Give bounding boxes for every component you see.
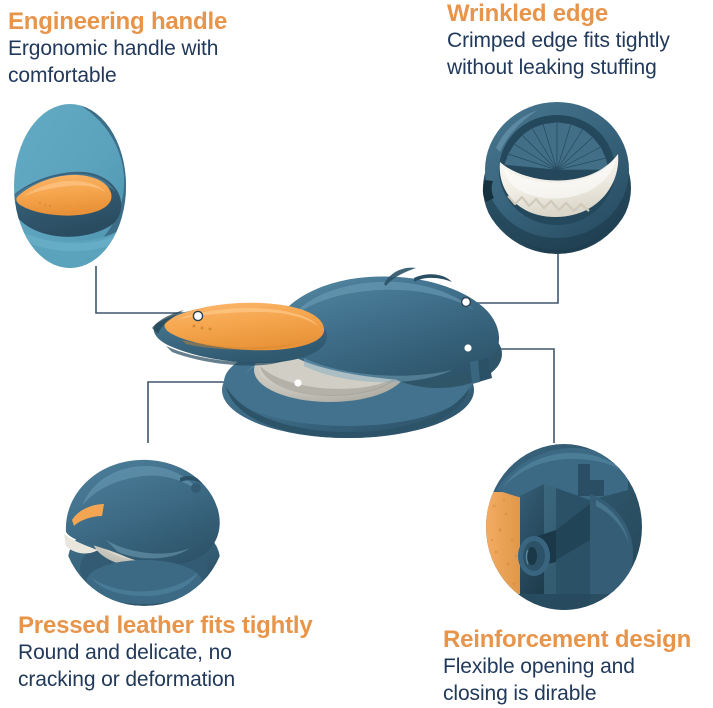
dough-press-detail-photo <box>62 444 226 606</box>
callout-line: Round and delicate, no <box>18 640 313 666</box>
callout-wrinkled-edge: Wrinkled edge Crimped edge fits tightly … <box>447 0 670 81</box>
callout-pressed-leather: Pressed leather fits tightly Round and d… <box>18 612 313 693</box>
callout-line: Ergonomic handle with <box>8 36 227 62</box>
hinge-detail-art <box>486 444 642 610</box>
marker-crimp <box>462 298 471 307</box>
callout-line: closing is dirable <box>443 681 691 707</box>
callout-line: Flexible opening and <box>443 654 691 680</box>
callout-title: Pressed leather fits tightly <box>18 612 313 640</box>
callout-line: cracking or deformation <box>18 667 313 693</box>
dumpling-maker-product <box>152 262 524 442</box>
callout-description: Flexible opening and closing is dirable <box>443 654 691 707</box>
callout-line: Crimped edge fits tightly <box>447 28 670 54</box>
hinge-detail-photo <box>486 444 642 610</box>
callout-line: comfortable <box>8 63 227 89</box>
callout-title: Engineering handle <box>8 8 227 36</box>
handle-detail-photo <box>14 104 126 268</box>
callout-engineering-handle: Engineering handle Ergonomic handle with… <box>8 8 227 89</box>
marker-hinge <box>464 344 471 351</box>
marker-press <box>294 379 301 386</box>
callout-description: Crimped edge fits tightly without leakin… <box>447 28 670 81</box>
marker-handle <box>193 311 202 320</box>
dough-press-detail-art <box>62 444 226 606</box>
infographic-page: Engineering handle Ergonomic handle with… <box>0 0 713 708</box>
crimped-edge-detail-art <box>478 92 636 254</box>
crimped-edge-detail-photo <box>478 92 636 254</box>
callout-description: Round and delicate, no cracking or defor… <box>18 640 313 693</box>
callout-reinforcement-design: Reinforcement design Flexible opening an… <box>443 626 691 707</box>
handle-detail-art <box>14 104 126 268</box>
callout-line: without leaking stuffing <box>447 55 670 81</box>
callout-title: Reinforcement design <box>443 626 691 654</box>
callout-title: Wrinkled edge <box>447 0 670 28</box>
callout-description: Ergonomic handle with comfortable <box>8 36 227 89</box>
dumpling-maker-art <box>152 262 524 442</box>
